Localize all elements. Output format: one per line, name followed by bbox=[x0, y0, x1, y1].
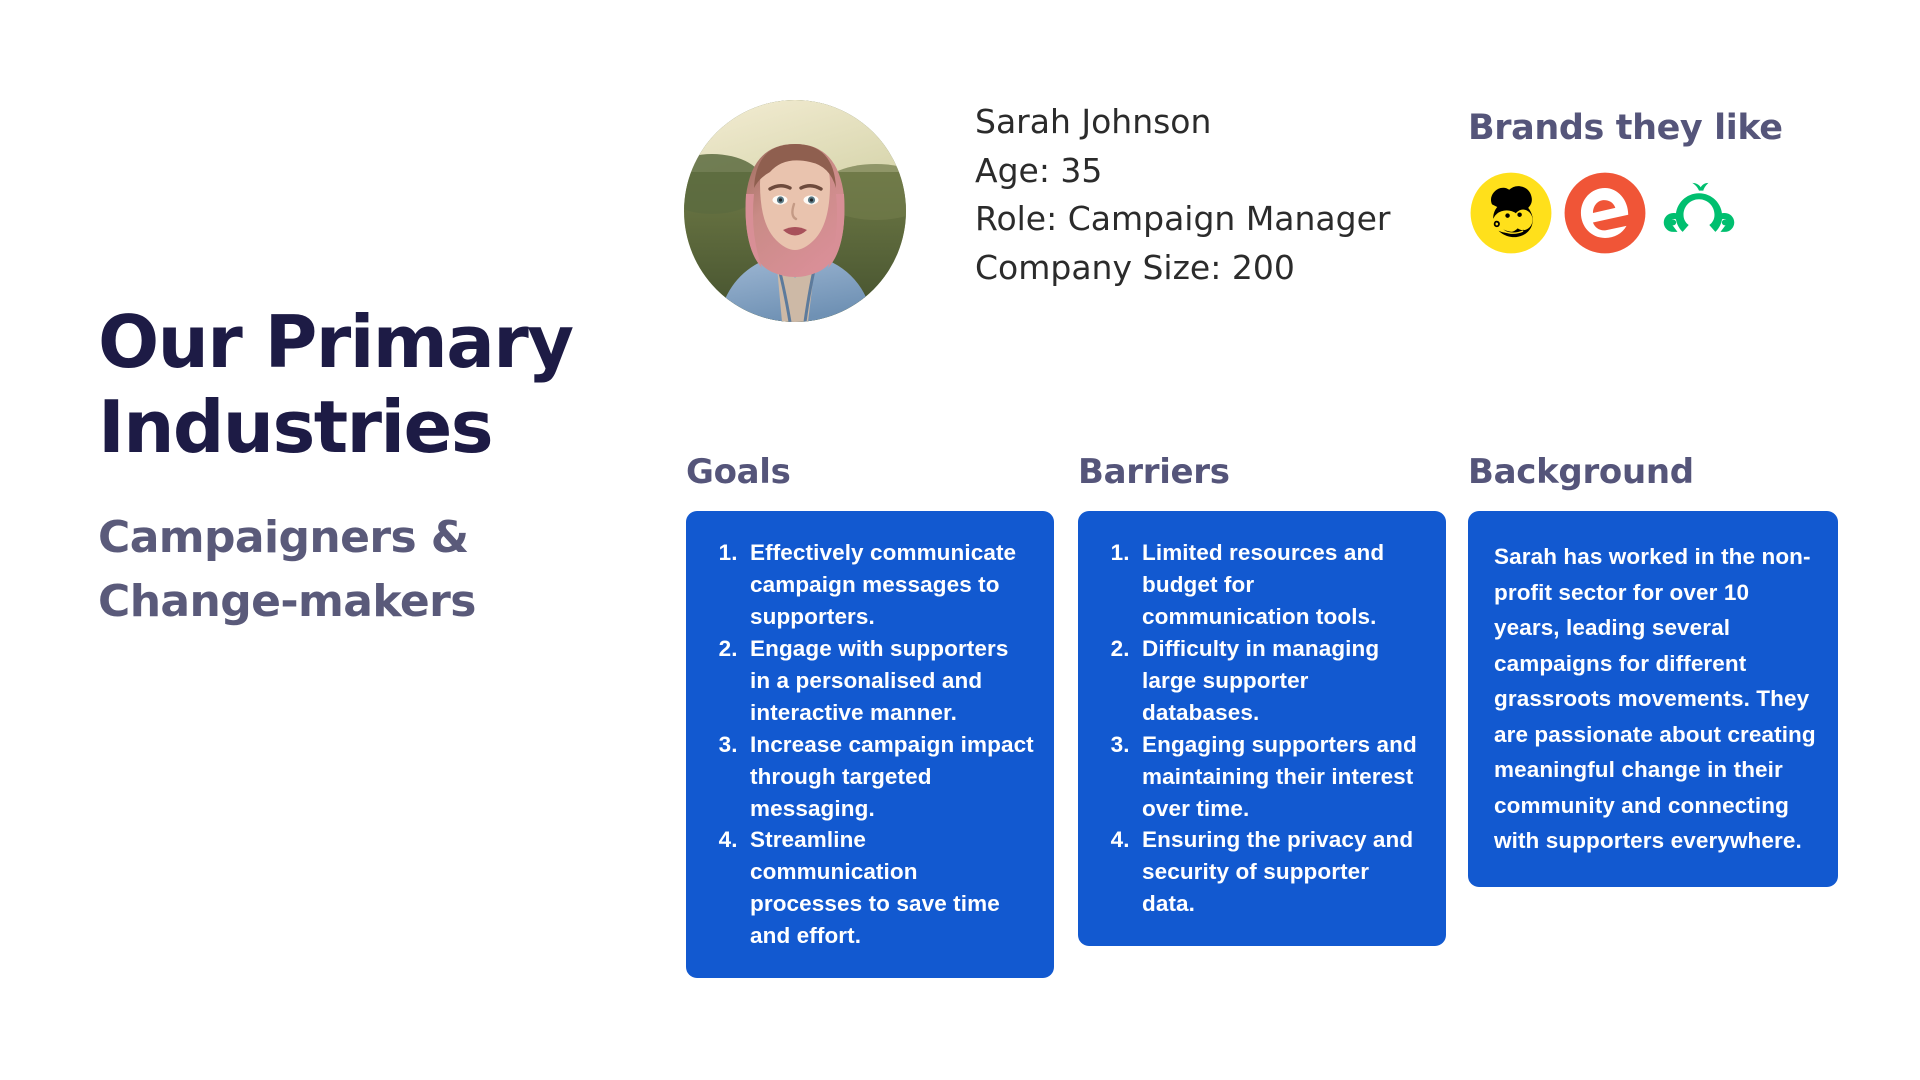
list-item: Streamline communication processes to sa… bbox=[744, 824, 1034, 952]
persona-name: Sarah Johnson bbox=[975, 98, 1405, 147]
section-goals: Goals Effectively communicate campaign m… bbox=[686, 452, 1054, 978]
list-item: Limited resources and budget for communi… bbox=[1136, 537, 1426, 633]
goals-list: Effectively communicate campaign message… bbox=[686, 511, 1054, 978]
surveymonkey-logo bbox=[1656, 170, 1742, 256]
barriers-list: Limited resources and budget for communi… bbox=[1078, 511, 1446, 946]
persona-details: Sarah Johnson Age: 35 Role: Campaign Man… bbox=[975, 98, 1405, 292]
section-heading-background: Background bbox=[1468, 452, 1838, 492]
page-subtitle-line-2: Change-makers bbox=[98, 576, 476, 627]
section-heading-barriers: Barriers bbox=[1078, 452, 1446, 492]
list-item: Effectively communicate campaign message… bbox=[744, 537, 1034, 633]
headline-block: Our Primary Industries Campaigners & Cha… bbox=[98, 300, 668, 634]
barriers-card: Limited resources and budget for communi… bbox=[1078, 511, 1446, 946]
brands-they-like-block: Brands they like bbox=[1468, 108, 1868, 256]
persona-age: Age: 35 bbox=[975, 147, 1405, 196]
brands-title: Brands they like bbox=[1468, 108, 1868, 148]
page-subtitle-line-1: Campaigners & bbox=[98, 512, 469, 563]
eventbrite-logo bbox=[1562, 170, 1648, 256]
section-background: Background Sarah has worked in the non-p… bbox=[1468, 452, 1838, 887]
page-title: Our Primary Industries bbox=[98, 300, 668, 470]
section-heading-goals: Goals bbox=[686, 452, 1054, 492]
page-subtitle: Campaigners & Change-makers bbox=[98, 506, 668, 634]
list-item: Increase campaign impact through targete… bbox=[744, 729, 1034, 825]
mailchimp-logo bbox=[1468, 170, 1554, 256]
persona-role: Role: Campaign Manager bbox=[975, 195, 1405, 244]
list-item: Difficulty in managing large supporter d… bbox=[1136, 633, 1426, 729]
section-barriers: Barriers Limited resources and budget fo… bbox=[1078, 452, 1446, 946]
background-text: Sarah has worked in the non-profit secto… bbox=[1468, 511, 1838, 887]
list-item: Engaging supporters and maintaining thei… bbox=[1136, 729, 1426, 825]
persona-company-size: Company Size: 200 bbox=[975, 244, 1405, 293]
list-item: Ensuring the privacy and security of sup… bbox=[1136, 824, 1426, 920]
goals-card: Effectively communicate campaign message… bbox=[686, 511, 1054, 978]
background-card: Sarah has worked in the non-profit secto… bbox=[1468, 511, 1838, 887]
list-item: Engage with supporters in a personalised… bbox=[744, 633, 1034, 729]
page-title-line-1: Our Primary bbox=[98, 300, 572, 384]
brand-logo-list bbox=[1468, 170, 1868, 256]
avatar bbox=[684, 100, 906, 322]
page-title-line-2: Industries bbox=[98, 385, 492, 469]
